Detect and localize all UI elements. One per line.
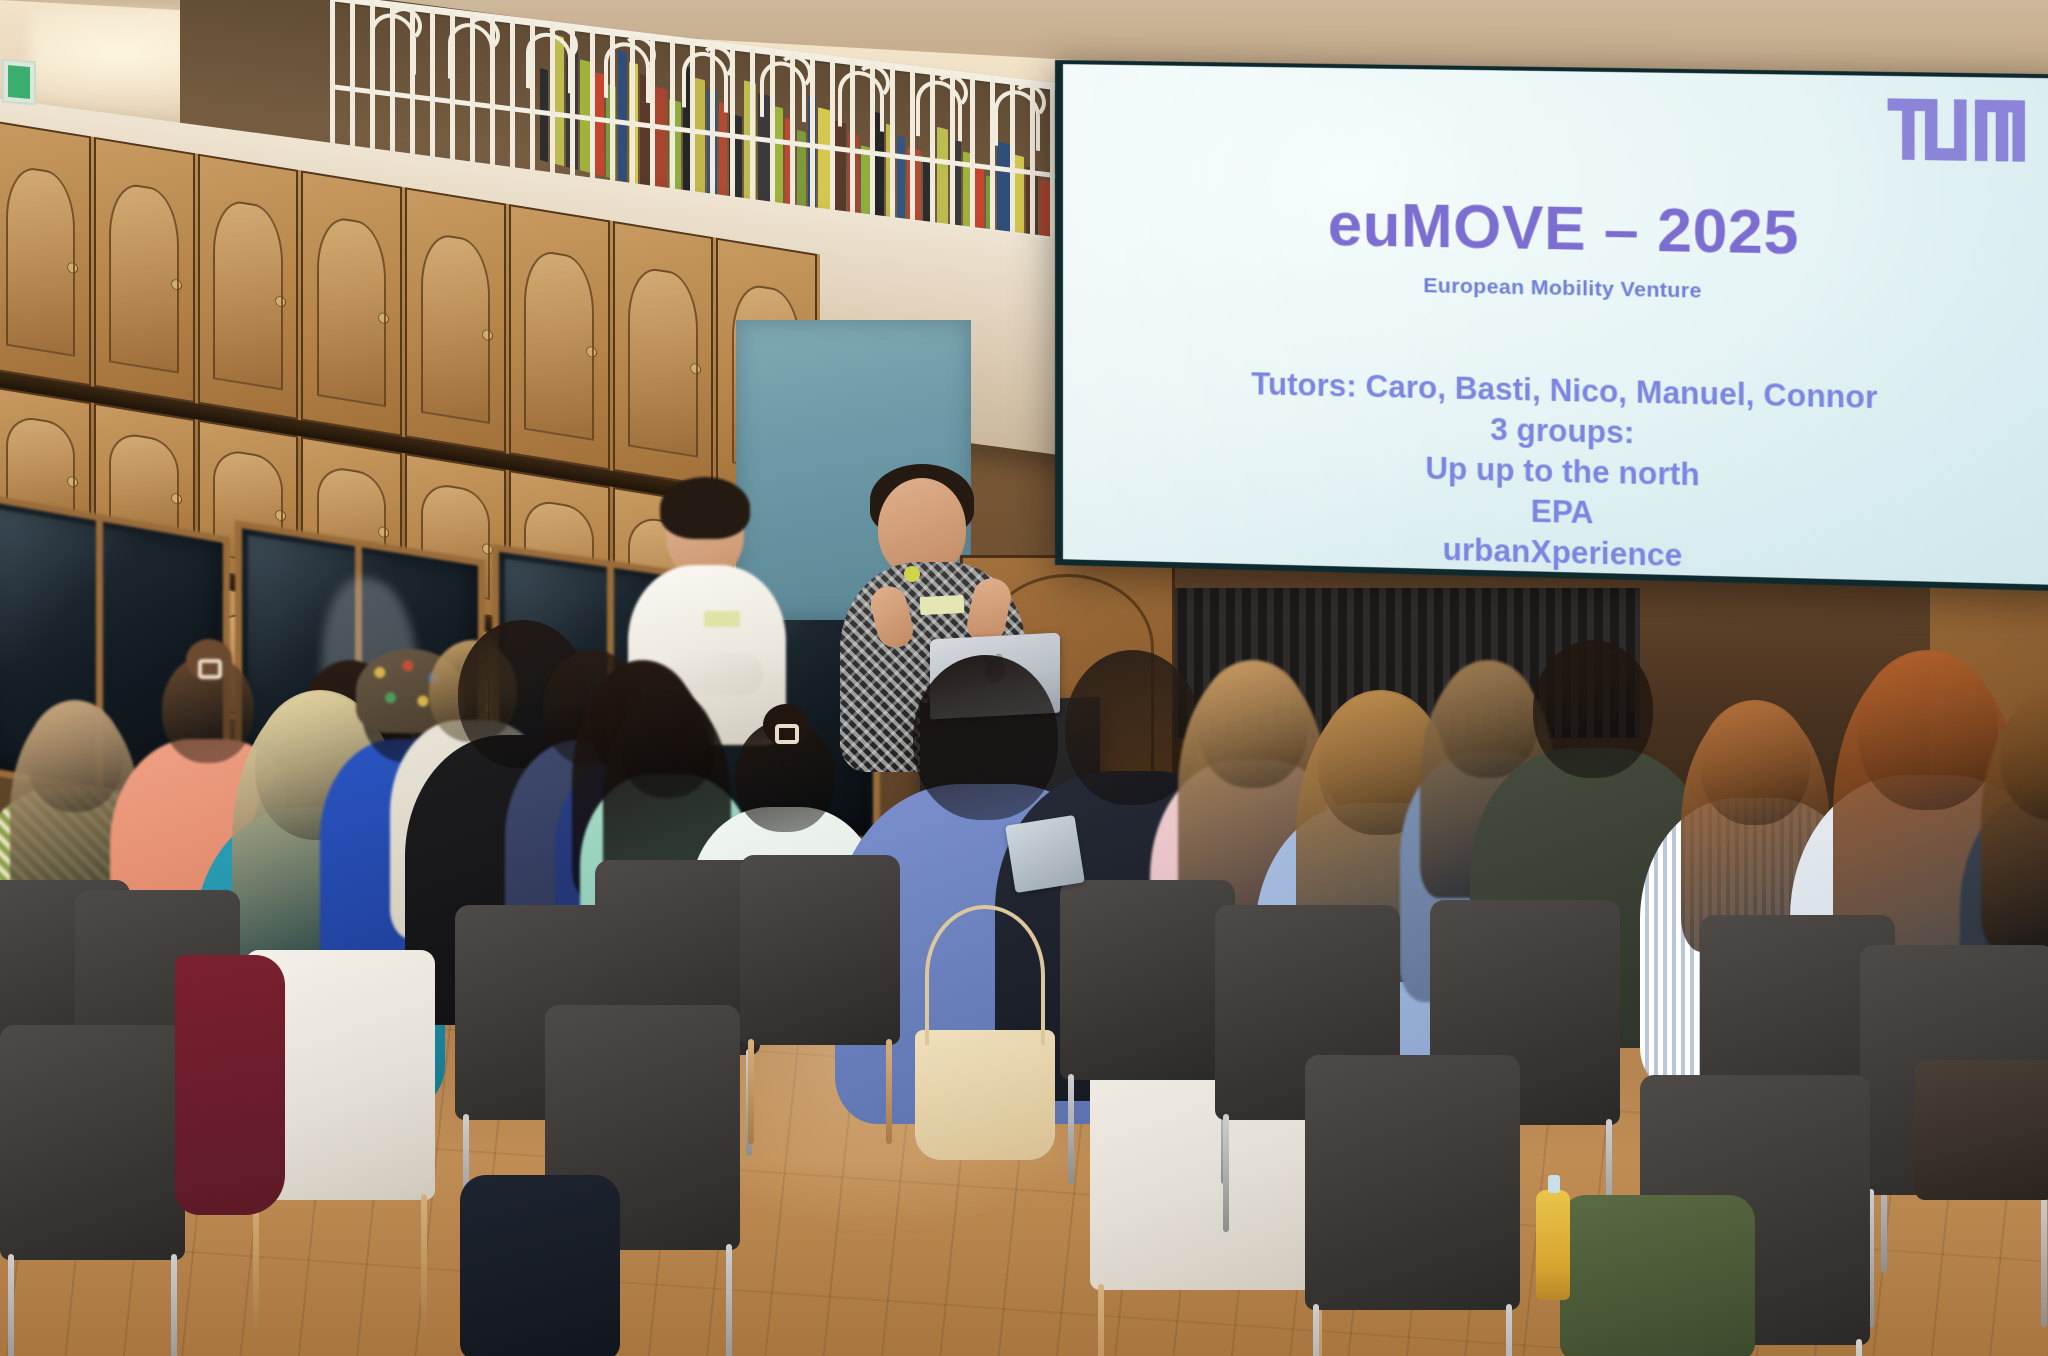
cabinet-knob[interactable]	[68, 263, 77, 273]
cabinet-knob[interactable]	[483, 544, 492, 554]
black-handbag	[1915, 1060, 2048, 1200]
railing-baluster	[830, 57, 835, 233]
presenter-speaking-name-badge	[920, 595, 965, 615]
backpack	[460, 1175, 620, 1356]
attendee-floral-dress-head	[27, 700, 123, 812]
chair-back	[740, 855, 900, 1045]
chair-leg	[886, 1039, 892, 1144]
cabinet-knob[interactable]	[483, 330, 492, 340]
tote-bag	[915, 1030, 1055, 1160]
cabinet-knob[interactable]	[172, 279, 181, 289]
cabinet-door[interactable]	[198, 154, 299, 420]
chair[interactable]	[1060, 880, 1235, 1080]
chair-back	[1060, 880, 1235, 1080]
green-duffel-bag	[1560, 1195, 1755, 1356]
slide-body-text: Tutors: Caro, Basti, Nico, Manuel, Conno…	[1063, 360, 2048, 585]
cabinet-door[interactable]	[405, 187, 506, 453]
cabinet-door[interactable]	[301, 170, 402, 436]
presenter-left-hair	[660, 477, 750, 539]
draped-jacket	[175, 955, 285, 1215]
cabinet-knob[interactable]	[379, 527, 388, 537]
chair-leg	[726, 1244, 732, 1356]
chair[interactable]	[1305, 1055, 1520, 1310]
chair-leg	[2041, 1189, 2047, 1327]
chair[interactable]	[0, 1025, 185, 1260]
chair-leg	[421, 1194, 427, 1332]
chair-back	[1305, 1055, 1520, 1310]
lecture-hall-photo: euMOVE – 2025 European Mobility Venture …	[0, 0, 2048, 1356]
railing-baluster	[670, 38, 675, 214]
chair[interactable]	[740, 855, 900, 1045]
chair-leg	[1068, 1074, 1074, 1184]
cabinet-door[interactable]	[94, 137, 195, 403]
presenter-left-name-badge	[704, 611, 740, 627]
exit-sign	[2, 59, 36, 106]
attendee-tablet	[1005, 815, 1085, 893]
chair-leg	[171, 1254, 177, 1356]
slide-title: euMOVE – 2025	[1063, 184, 2048, 273]
attendee-coral-top-hair-clip	[198, 659, 222, 679]
chair-leg	[1098, 1284, 1104, 1356]
attendee-white-knit-hair-clip	[775, 724, 799, 744]
tote-bag-strap	[925, 905, 1045, 1045]
cabinet-knob[interactable]	[276, 296, 285, 306]
chair-leg	[8, 1254, 14, 1356]
cabinet-knob[interactable]	[172, 493, 181, 503]
cabinet-knob[interactable]	[68, 477, 77, 487]
chair-leg	[1223, 1114, 1229, 1232]
cabinet-door[interactable]	[0, 120, 91, 386]
chair-leg	[1506, 1304, 1512, 1356]
railing-baluster	[910, 67, 915, 243]
slide-surface: euMOVE – 2025 European Mobility Venture …	[1063, 64, 2048, 585]
presenter-clicker	[904, 566, 920, 582]
screen-frame: euMOVE – 2025 European Mobility Venture …	[1055, 60, 2048, 592]
railing-baluster	[890, 65, 895, 241]
slide-subtitle: European Mobility Venture	[1063, 267, 2048, 311]
railing-baluster	[970, 75, 975, 251]
cabinet-knob[interactable]	[691, 363, 700, 373]
chair-leg	[253, 1194, 259, 1332]
cabinet-knob[interactable]	[587, 347, 596, 357]
juice-bottle	[1536, 1190, 1570, 1300]
projection-screen: euMOVE – 2025 European Mobility Venture …	[1055, 60, 2048, 592]
chair-leg	[1856, 1339, 1862, 1356]
railing-baluster	[810, 55, 815, 231]
cabinet-door[interactable]	[613, 221, 714, 487]
chair-back	[0, 1025, 185, 1260]
railing-baluster	[750, 48, 755, 224]
attendee-glasses-olive-head	[1533, 640, 1653, 778]
chair-leg	[748, 1039, 754, 1144]
cabinet-door[interactable]	[509, 204, 610, 470]
cabinet-knob[interactable]	[379, 313, 388, 323]
cabinet-knob[interactable]	[276, 510, 285, 520]
chair-leg	[1313, 1304, 1319, 1356]
tum-logo	[1888, 98, 2025, 163]
